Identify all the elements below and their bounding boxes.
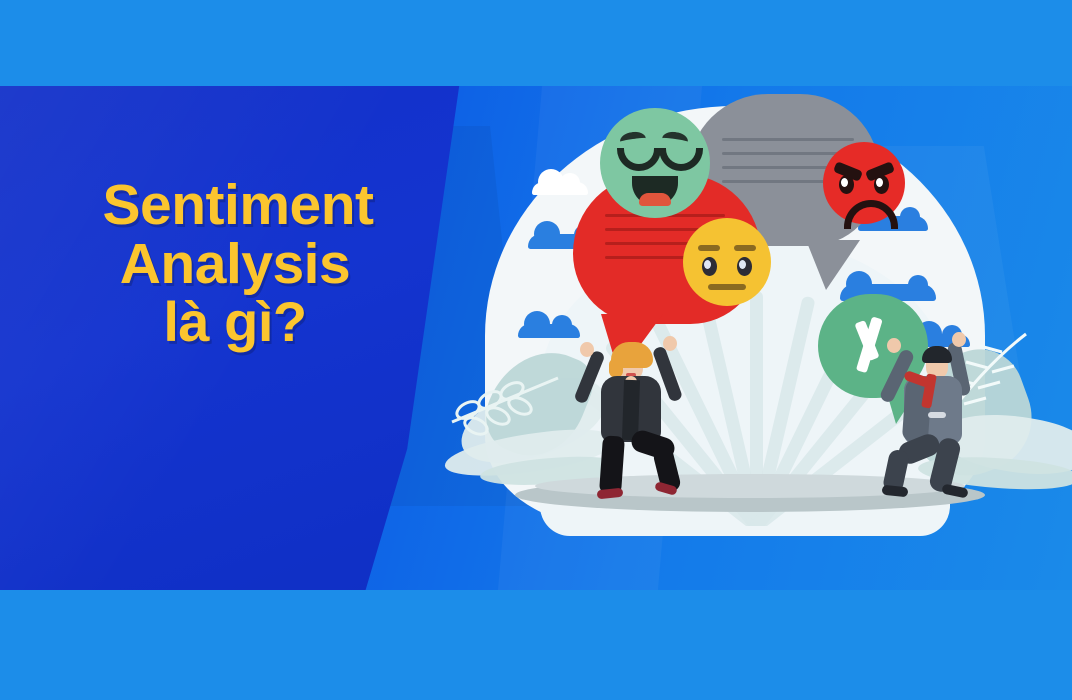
eye-left	[839, 175, 854, 194]
hand-right	[952, 332, 966, 347]
title-line-3: là gì?	[0, 293, 470, 351]
title-line-2: Analysis	[0, 235, 470, 294]
eye-right	[737, 257, 752, 276]
fern-icon	[446, 364, 576, 454]
brow-right	[661, 130, 689, 149]
bubble-text-line	[605, 228, 709, 231]
title-line-1: Sentiment	[0, 176, 470, 235]
eye-left	[702, 257, 717, 276]
bottom-band	[0, 590, 1072, 700]
brow-left	[619, 130, 647, 149]
brow-left	[698, 245, 720, 251]
page-title: Sentiment Analysis là gì?	[0, 176, 470, 351]
pocket	[928, 412, 946, 418]
bubble-text-line	[722, 152, 840, 155]
hair	[922, 346, 952, 363]
leg-left	[599, 435, 625, 494]
illustration	[440, 86, 1072, 590]
brow-right	[734, 245, 756, 251]
eye-right	[874, 175, 889, 194]
eye-right	[659, 148, 703, 171]
hand-right	[663, 336, 677, 351]
eye-left	[617, 148, 661, 171]
top-band	[0, 0, 1072, 86]
bubble-text-line	[722, 180, 830, 183]
shoe-left	[882, 485, 909, 498]
bubble-tail	[806, 240, 860, 290]
celebrating-woman	[575, 324, 705, 499]
hair-side	[609, 358, 623, 378]
neutral-face	[683, 218, 771, 306]
happy-face	[600, 108, 710, 218]
cloud-icon	[532, 182, 588, 195]
mouth	[708, 284, 746, 290]
mouth	[632, 176, 678, 206]
angry-face	[823, 142, 905, 224]
shoe-left	[597, 488, 624, 500]
tongue	[639, 193, 671, 206]
bubble-text-line	[722, 138, 854, 141]
mouth	[844, 200, 898, 229]
celebrating-man	[880, 326, 1010, 501]
hand-left	[887, 338, 901, 353]
banner-canvas: Sentiment Analysis là gì?	[0, 0, 1072, 700]
cloud-icon	[518, 324, 580, 338]
shoe-right	[941, 483, 969, 498]
hand-left	[580, 342, 594, 357]
